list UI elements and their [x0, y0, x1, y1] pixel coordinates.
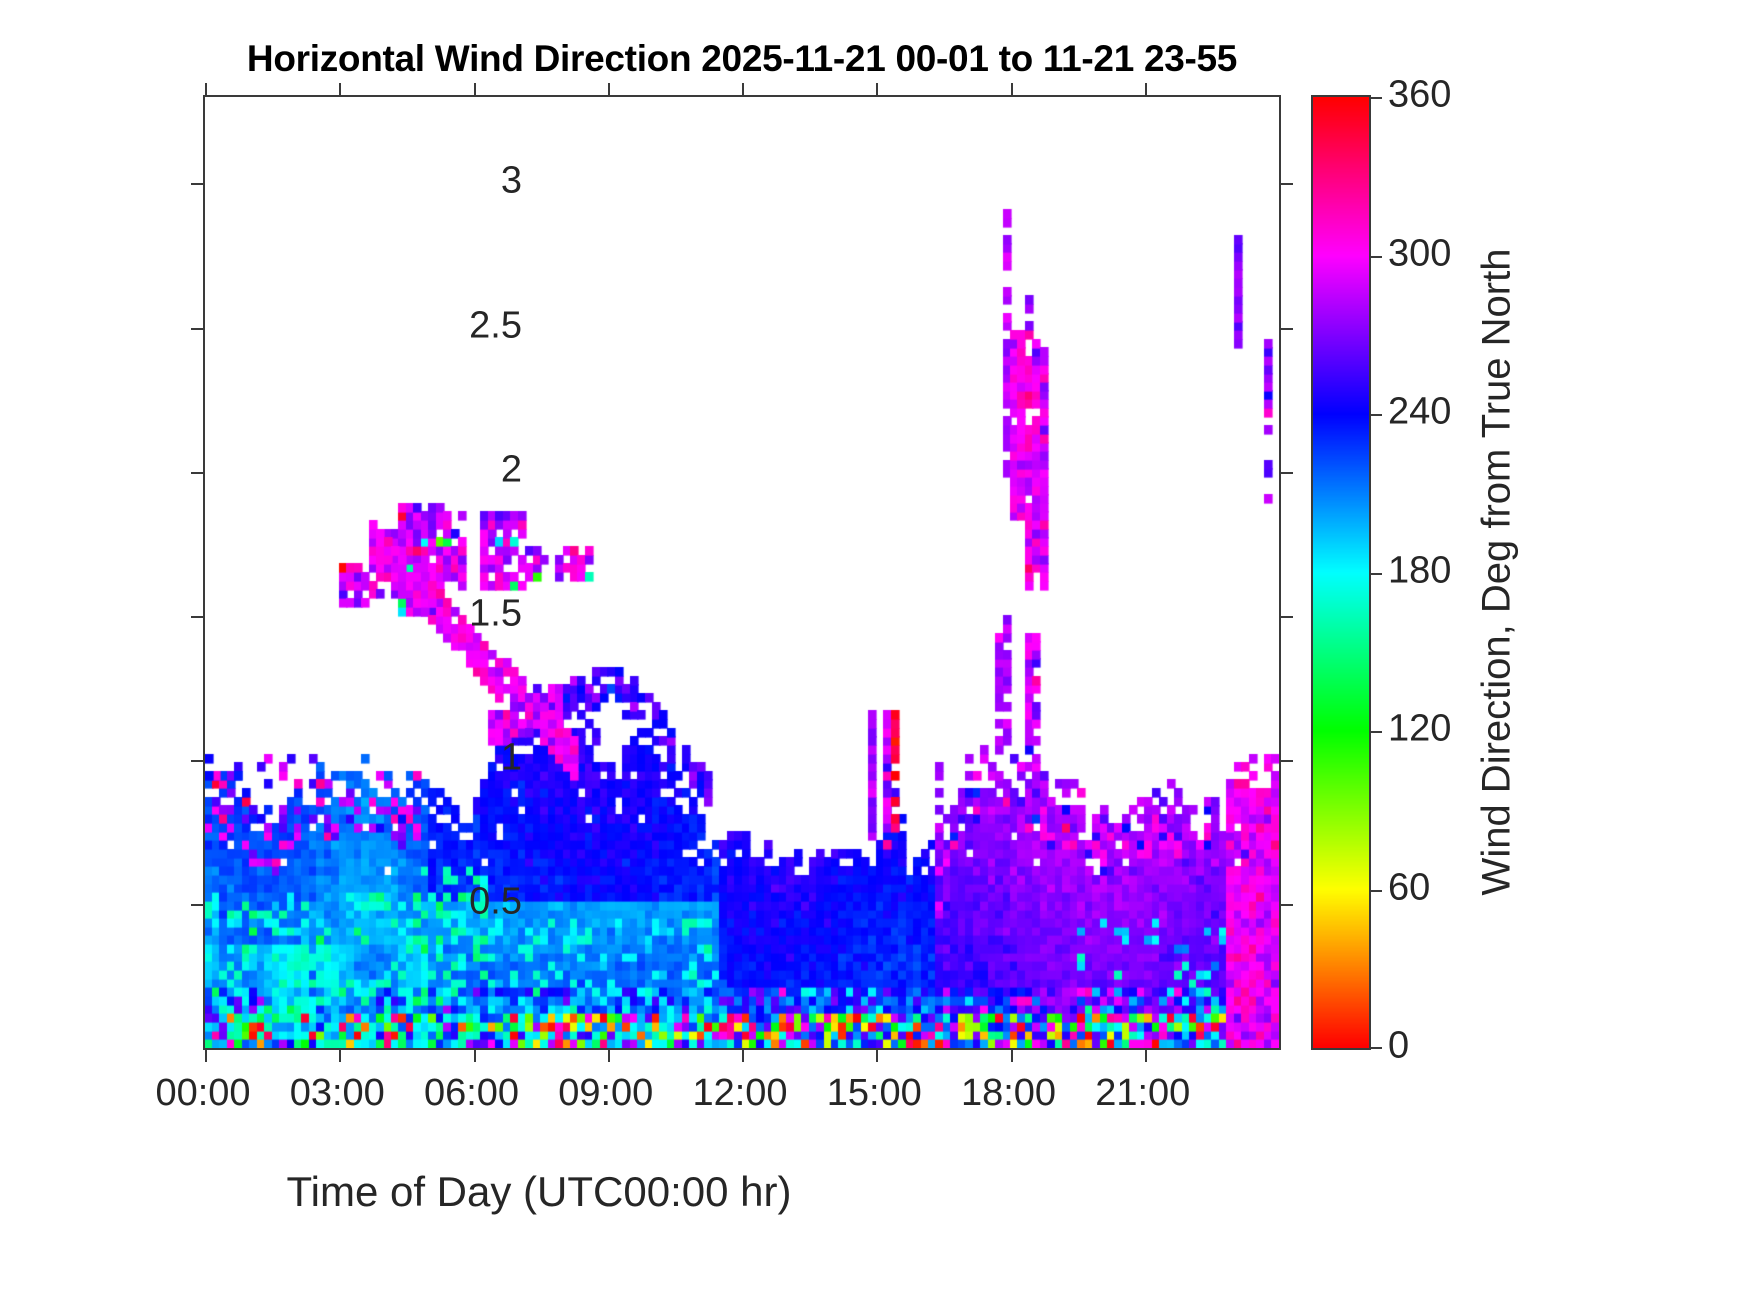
figure-canvas: Horizontal Wind Direction 2025-11-21 00-… [0, 0, 1750, 1313]
colorbar-tick [1369, 573, 1382, 575]
x-tick-label: 18:00 [961, 1072, 1056, 1115]
x-tick [474, 1048, 476, 1062]
x-tick-label: 21:00 [1095, 1072, 1190, 1115]
colorbar-tick-label: 180 [1388, 549, 1451, 592]
colorbar-tick [1369, 414, 1382, 416]
colorbar-tick-label: 360 [1388, 74, 1451, 117]
x-tick-mirror [1011, 83, 1013, 97]
y-tick-label: 1 [501, 736, 522, 779]
x-tick-label: 12:00 [692, 1072, 787, 1115]
colorbar-tick [1369, 1047, 1382, 1049]
x-tick [876, 1048, 878, 1062]
x-tick-label: 15:00 [827, 1072, 922, 1115]
x-tick-label: 06:00 [424, 1072, 519, 1115]
y-tick-label: 2 [501, 448, 522, 491]
colorbar-tick-label: 120 [1388, 708, 1451, 751]
y-tick-mirror [1279, 760, 1293, 762]
colorbar-tick-label: 0 [1388, 1025, 1409, 1068]
colorbar [1311, 95, 1371, 1050]
x-tick-label: 00:00 [155, 1072, 250, 1115]
y-tick [191, 328, 205, 330]
x-tick-label: 03:00 [290, 1072, 385, 1115]
page-title: Horizontal Wind Direction 2025-11-21 00-… [203, 38, 1281, 80]
y-tick-label: 3 [501, 160, 522, 203]
x-tick [339, 1048, 341, 1062]
x-tick-mirror [205, 83, 207, 97]
x-axis-title: Time of Day (UTC00:00 hr) [287, 1168, 792, 1216]
y-tick-label: 1.5 [469, 592, 522, 635]
x-tick [742, 1048, 744, 1062]
plot-axes [203, 95, 1281, 1050]
y-tick [191, 183, 205, 185]
x-tick-mirror [474, 83, 476, 97]
x-tick-mirror [876, 83, 878, 97]
y-tick [191, 616, 205, 618]
y-tick-mirror [1279, 472, 1293, 474]
colorbar-tick [1369, 256, 1382, 258]
colorbar-gradient [1313, 97, 1369, 1048]
colorbar-tick-label: 240 [1388, 391, 1451, 434]
colorbar-tick [1369, 731, 1382, 733]
x-tick [608, 1048, 610, 1062]
colorbar-tick [1369, 890, 1382, 892]
x-tick-mirror [1145, 83, 1147, 97]
x-tick-mirror [742, 83, 744, 97]
y-tick-label: 0.5 [469, 880, 522, 923]
y-tick-mirror [1279, 328, 1293, 330]
x-tick-mirror [339, 83, 341, 97]
colorbar-tick-label: 300 [1388, 232, 1451, 275]
y-tick [191, 760, 205, 762]
x-tick [205, 1048, 207, 1062]
x-tick [1145, 1048, 1147, 1062]
wind-direction-heatmap [205, 97, 1279, 1048]
colorbar-title: Wind Direction, Deg from True North [1475, 249, 1520, 896]
y-tick-label: 2.5 [469, 304, 522, 347]
colorbar-tick-label: 60 [1388, 866, 1430, 909]
y-tick-mirror [1279, 183, 1293, 185]
x-tick-mirror [608, 83, 610, 97]
y-tick-mirror [1279, 904, 1293, 906]
y-tick-mirror [1279, 616, 1293, 618]
x-tick-label: 09:00 [558, 1072, 653, 1115]
colorbar-tick [1369, 97, 1382, 99]
y-tick [191, 904, 205, 906]
y-tick [191, 472, 205, 474]
x-tick [1011, 1048, 1013, 1062]
